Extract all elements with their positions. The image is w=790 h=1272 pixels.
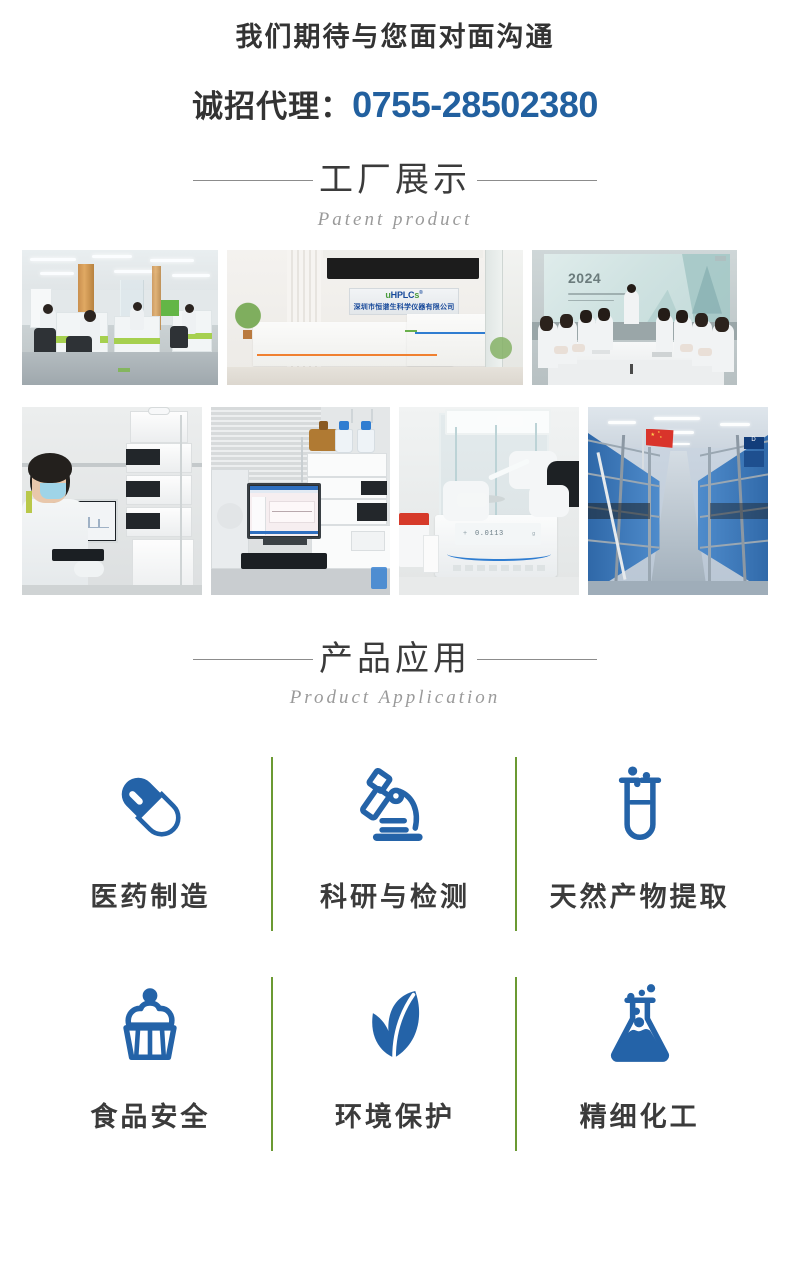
hplc-workstation-photo[interactable]: [211, 407, 391, 595]
application-item-research[interactable]: 科研与检测: [273, 741, 518, 961]
office-workspace-photo[interactable]: [22, 250, 218, 385]
cupcake-icon: [104, 971, 196, 1081]
heading-rule-left: [193, 180, 313, 181]
factory-section-subtitle: Patent product: [0, 209, 790, 231]
gallery-row-2: 0.0113 + g: [22, 407, 768, 595]
application-item-fine-chemicals[interactable]: 精细化工: [517, 961, 762, 1181]
application-section-subtitle: Product Application: [0, 687, 790, 709]
application-section-heading: 产品应用 Product Application: [0, 641, 790, 709]
hplc-operation-photo[interactable]: [22, 407, 202, 595]
application-label: 环境保护: [335, 1095, 455, 1134]
leaf-icon: [349, 971, 441, 1081]
application-row-2: 食品安全 环境保护: [28, 961, 762, 1181]
reception-lobby-photo[interactable]: uHPLCs® 深圳市恒谱生科学仪器有限公司: [227, 250, 523, 385]
application-heading-row: 产品应用: [0, 641, 790, 678]
application-item-pharma[interactable]: 医药制造: [28, 741, 273, 961]
application-label: 科研与检测: [320, 875, 470, 914]
heading-rule-left-2: [193, 659, 313, 660]
factory-heading-row: 工厂展示: [0, 162, 790, 199]
application-grid: 医药制造 科研与检测: [0, 741, 790, 1181]
factory-photo-gallery: uHPLCs® 深圳市恒谱生科学仪器有限公司 2024: [0, 250, 790, 595]
gallery-row-1: uHPLCs® 深圳市恒谱生科学仪器有限公司 2024: [22, 250, 768, 385]
analytical-balance-photo[interactable]: 0.0113 + g: [399, 407, 579, 595]
contact-phone-number[interactable]: 0755-28502380: [352, 84, 598, 125]
application-item-food-safety[interactable]: 食品安全: [28, 961, 273, 1181]
reception-company-sign: uHPLCs® 深圳市恒谱生科学仪器有限公司: [349, 288, 459, 315]
agent-recruit-label: 诚招代理：: [192, 89, 352, 124]
application-label: 医药制造: [90, 875, 210, 914]
application-item-environment[interactable]: 环境保护: [273, 961, 518, 1181]
test-tube-icon: [594, 751, 686, 861]
factory-section-title: 工厂展示: [319, 162, 471, 199]
hero-subtitle: 诚招代理：0755-28502380: [0, 83, 790, 126]
application-item-natural-extract[interactable]: 天然产物提取: [517, 741, 762, 961]
hero-banner: 我们期待与您面对面沟通 诚招代理：0755-28502380: [0, 0, 790, 126]
microscope-icon: [349, 751, 441, 861]
capsule-pill-icon: [104, 751, 196, 861]
warehouse-photo[interactable]: ★ ★ ★ D: [588, 407, 768, 595]
meeting-room-photo[interactable]: 2024: [532, 250, 737, 385]
hero-title: 我们期待与您面对面沟通: [0, 20, 790, 55]
erlenmeyer-flask-icon: [594, 971, 686, 1081]
heading-rule-right: [477, 180, 597, 181]
balance-display: 0.0113 + g: [455, 523, 541, 545]
application-label: 食品安全: [90, 1095, 210, 1134]
factory-section-heading: 工厂展示 Patent product: [0, 162, 790, 230]
aisle-label-d: D: [744, 437, 764, 449]
application-section-title: 产品应用: [319, 641, 471, 678]
balance-reading: 0.0113: [475, 530, 504, 538]
heading-rule-right-2: [477, 659, 597, 660]
slide-year-text: 2024: [568, 270, 601, 286]
application-label: 精细化工: [580, 1095, 700, 1134]
application-row-1: 医药制造 科研与检测: [28, 741, 762, 961]
company-name-chinese: 深圳市恒谱生科学仪器有限公司: [354, 302, 455, 312]
uhplcs-logo: uHPLCs®: [385, 291, 422, 300]
application-label: 天然产物提取: [550, 875, 730, 914]
